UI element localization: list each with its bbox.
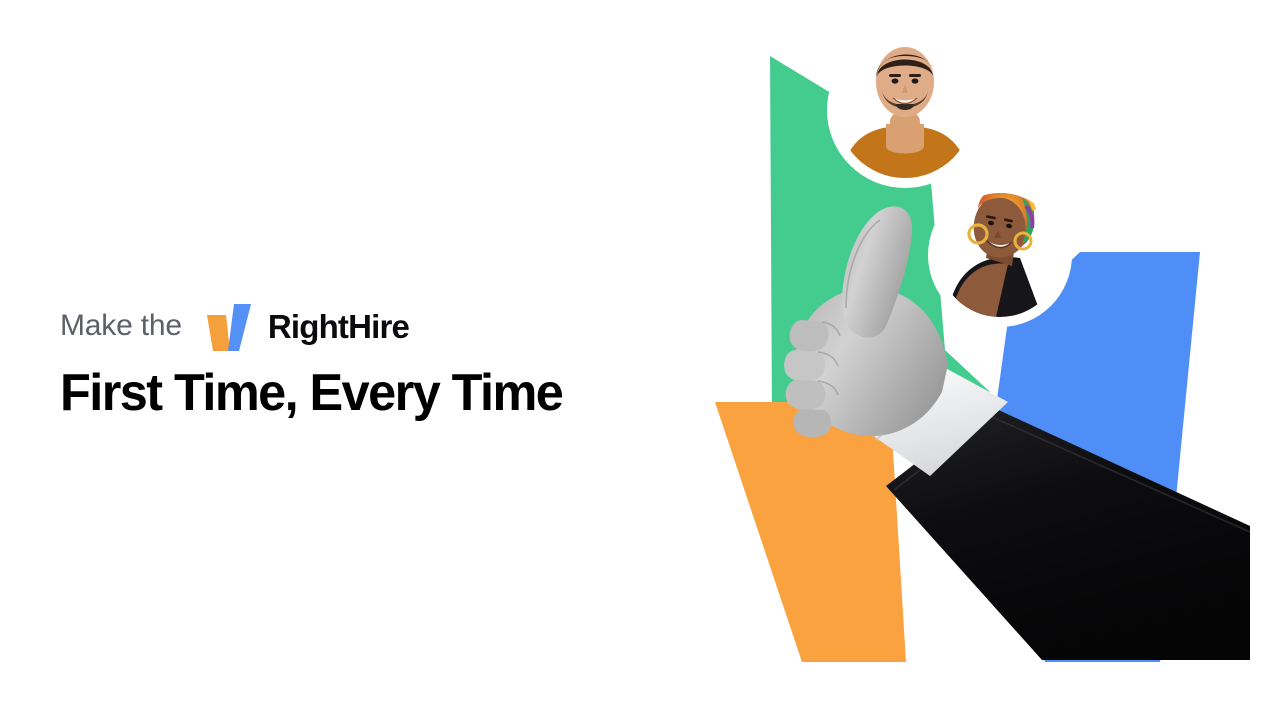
logo-blue-shape (228, 304, 251, 351)
portrait-smiling-man (831, 36, 979, 184)
logo-orange-shape (207, 315, 230, 351)
slide-root: Make the RightHire First Time, Every Tim… (0, 0, 1280, 720)
brand-wordmark: RightHire (268, 310, 409, 343)
eyebrow-row: Make the RightHire (60, 300, 680, 352)
righthire-logo-mark (204, 301, 258, 351)
portrait-smiling-woman (932, 186, 1068, 323)
collage (690, 20, 1250, 700)
eyebrow-text: Make the (60, 311, 182, 341)
copy-block: Make the RightHire First Time, Every Tim… (60, 300, 680, 421)
headline: First Time, Every Time (60, 366, 661, 421)
